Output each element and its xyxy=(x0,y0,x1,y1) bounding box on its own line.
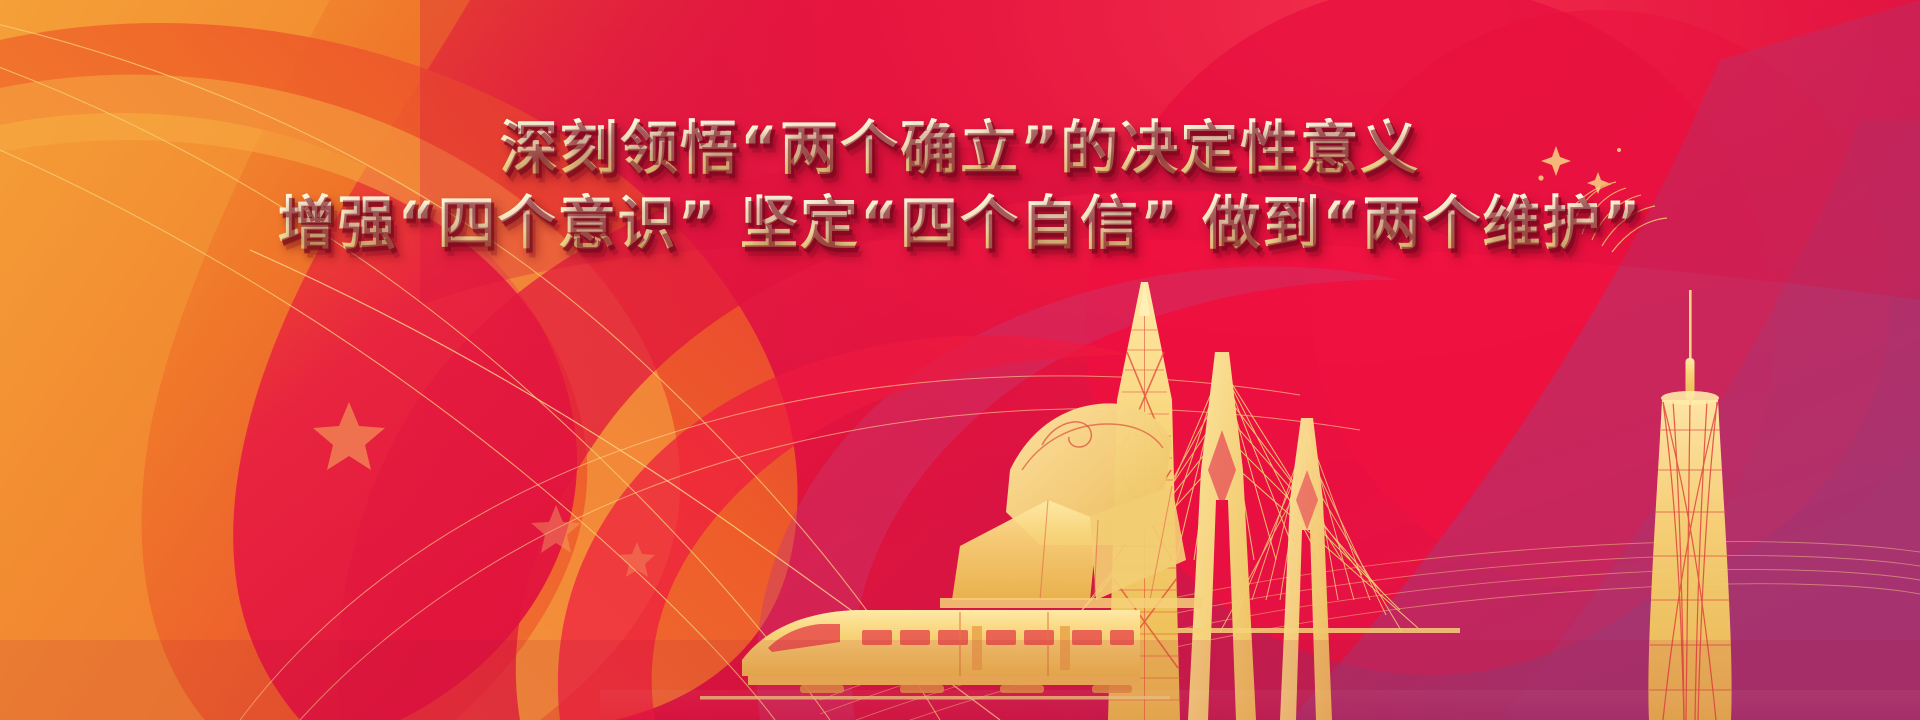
banner-canvas: 深刻领悟“两个确立”的决定性意义 增强“四个意识” 坚定“四个自信” 做到“两个… xyxy=(0,0,1920,720)
firework-sparkle-icon xyxy=(1538,146,1621,194)
star-tiny-icon xyxy=(619,542,655,577)
star-large-icon xyxy=(313,402,385,470)
firework-burst-icon xyxy=(1566,182,1667,252)
decorative-elements xyxy=(0,0,1920,720)
star-small-icon xyxy=(531,505,581,553)
